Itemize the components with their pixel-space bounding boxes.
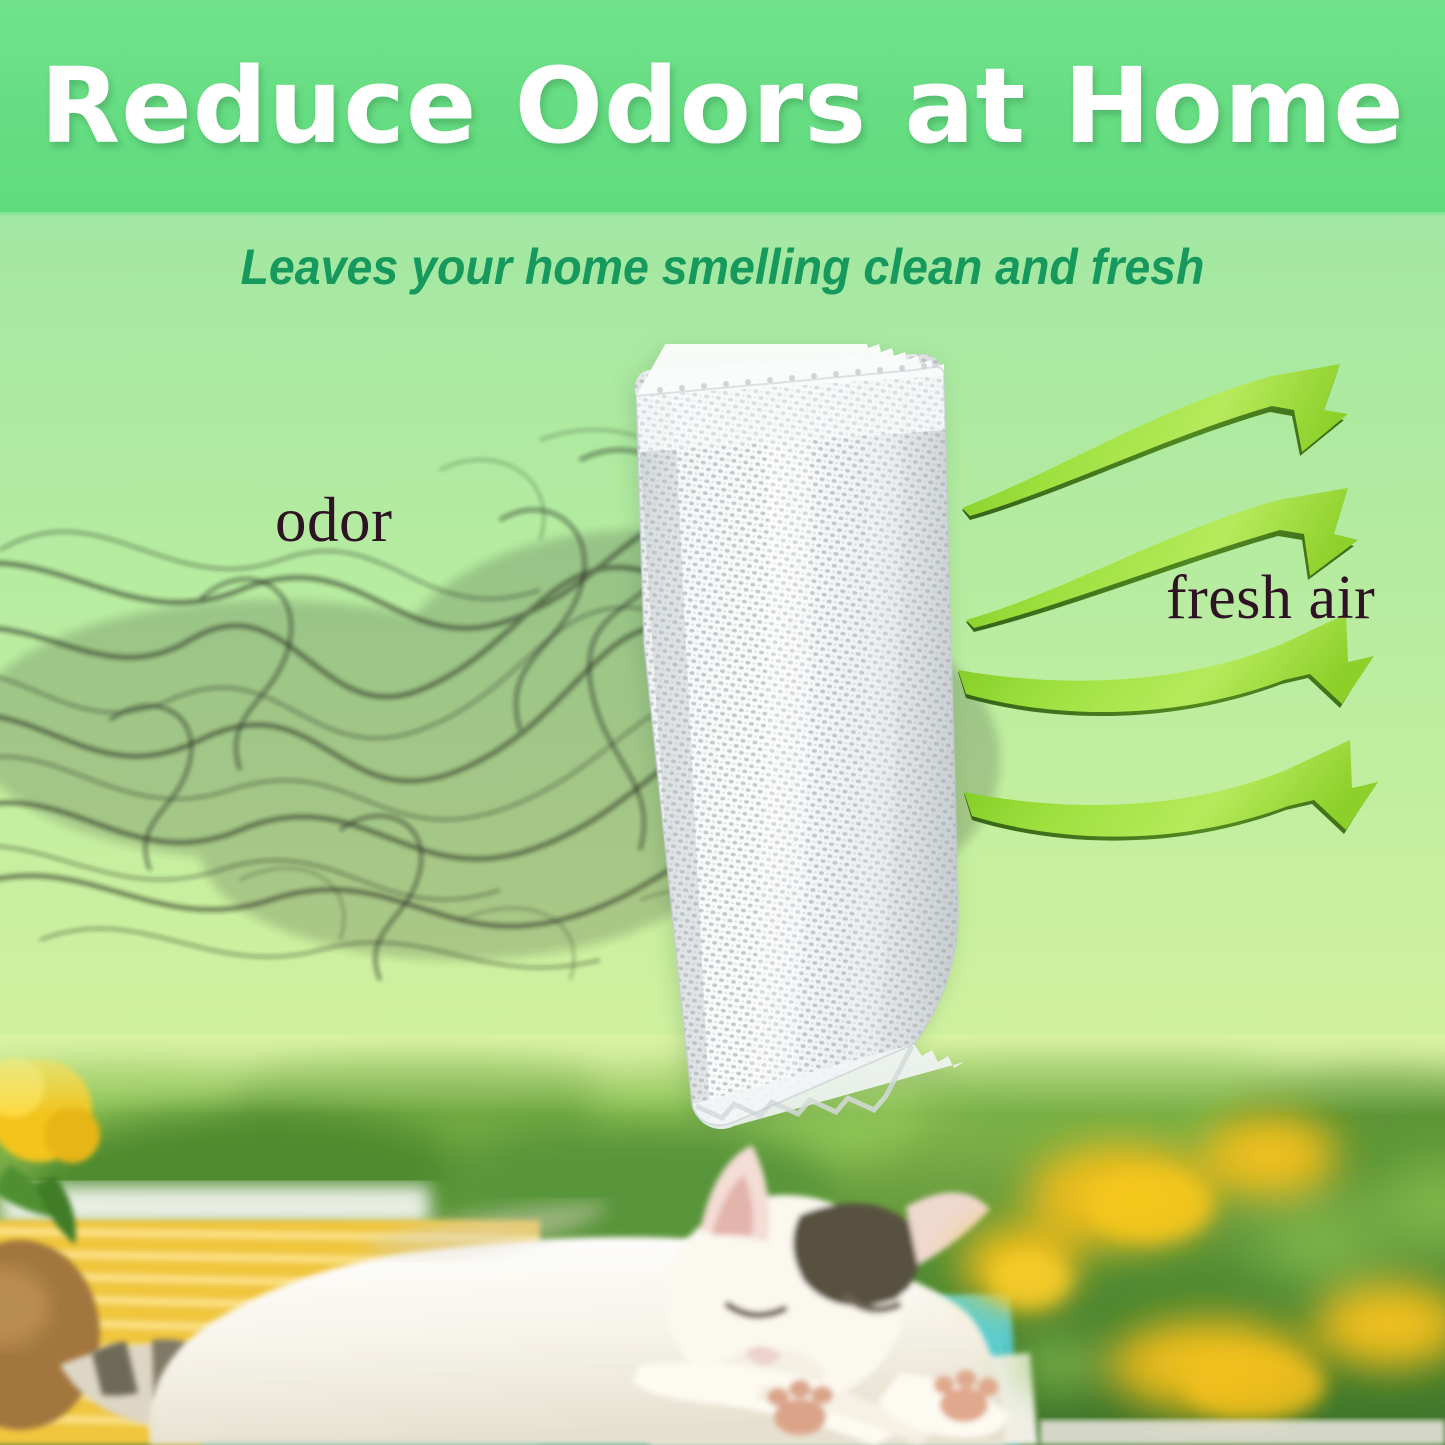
headline-banner: Reduce Odors at Home [0,0,1445,212]
odor-label: odor [275,487,392,553]
promo-image-root: Reduce Odors at Home Leaves your home sm… [0,0,1445,1445]
deodorizer-bag-product [614,344,984,1132]
subtitle-tagline: Leaves your home smelling clean and fres… [51,238,1395,296]
page-title: Reduce Odors at Home [0,51,1445,161]
fresh-air-label: fresh air [1166,565,1375,631]
